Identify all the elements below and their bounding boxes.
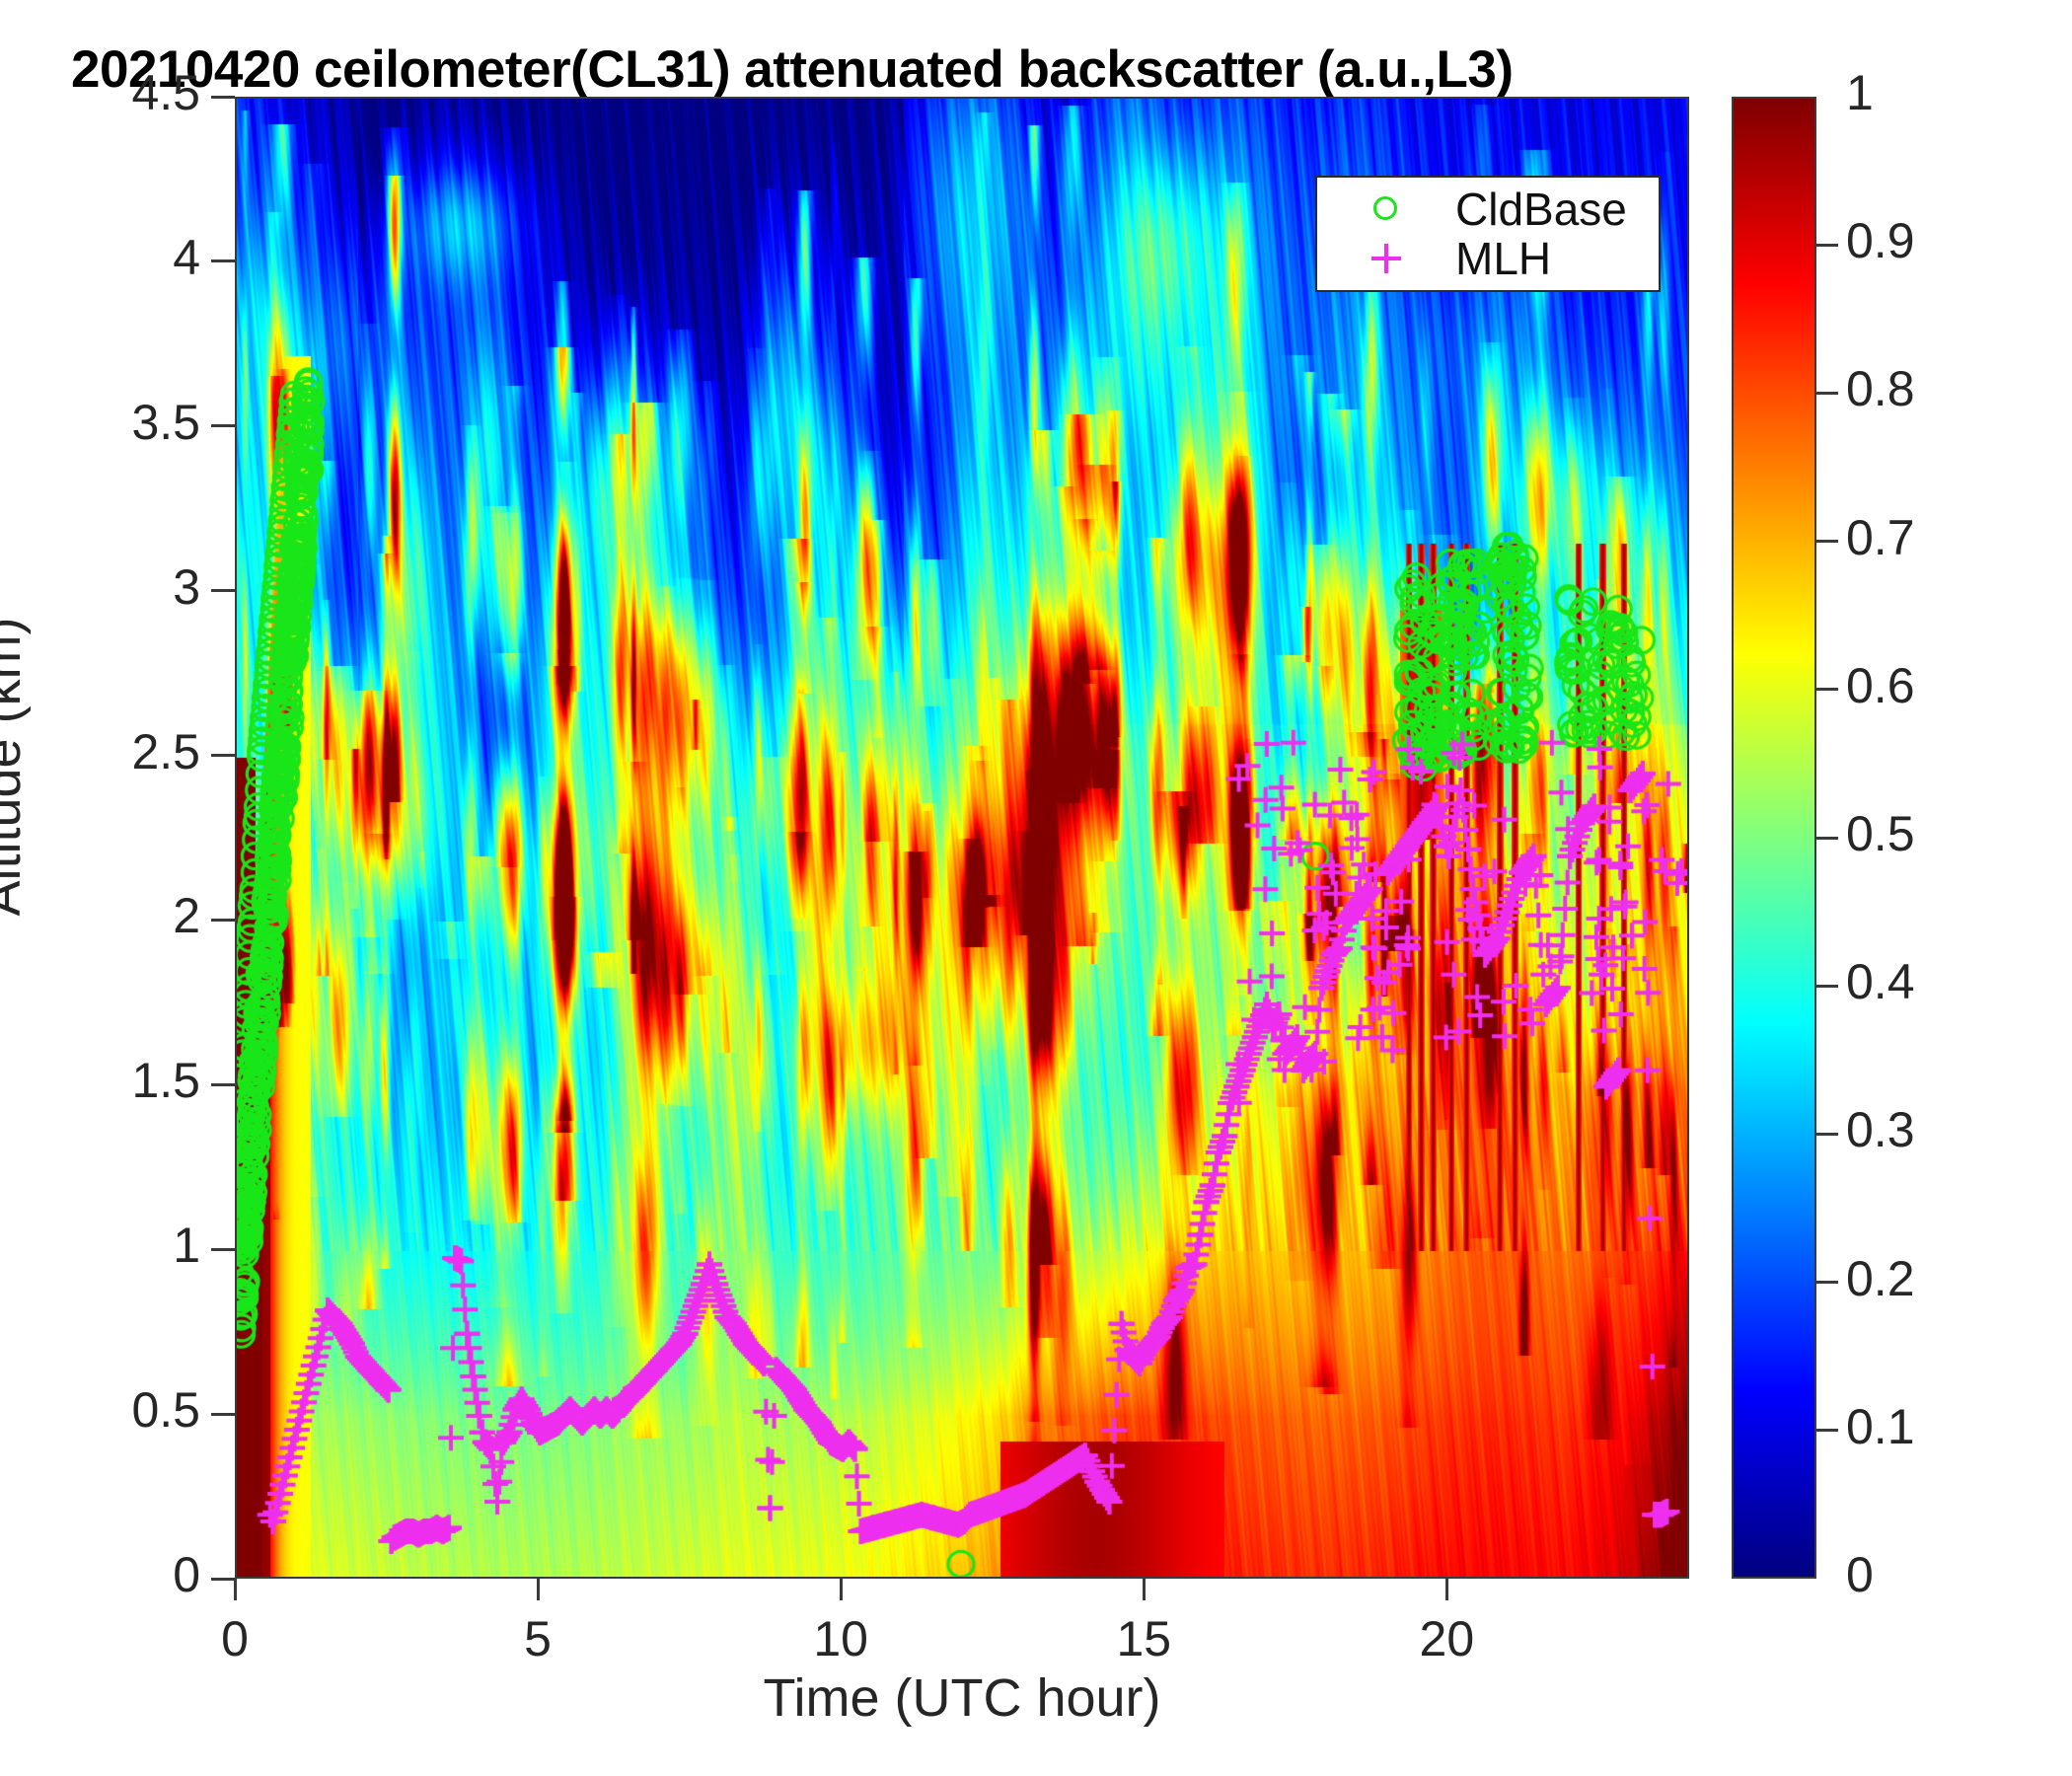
colorbar-gradient xyxy=(1734,99,1814,1577)
y-tick-label: 4 xyxy=(8,229,200,286)
y-tick-mark xyxy=(211,1578,235,1581)
colorbar-tick-label: 0.2 xyxy=(1846,1250,1915,1307)
y-tick-mark xyxy=(211,919,235,922)
colorbar xyxy=(1732,97,1816,1579)
legend-item-mlh: MLH xyxy=(1317,234,1659,283)
y-tick-mark xyxy=(211,96,235,99)
colorbar-tick-label: 0.9 xyxy=(1846,212,1915,269)
colorbar-tick-mark xyxy=(1816,1429,1838,1432)
colorbar-tick-mark xyxy=(1816,244,1838,247)
marker-overlay xyxy=(237,99,1689,1579)
plot-area xyxy=(235,97,1689,1579)
y-tick-mark xyxy=(211,1413,235,1416)
colorbar-tick-mark xyxy=(1816,688,1838,691)
colorbar-tick-mark xyxy=(1816,837,1838,840)
y-tick-label: 4.5 xyxy=(8,64,200,121)
legend-item-cldbase: CldBase xyxy=(1317,185,1659,234)
x-tick-label: 0 xyxy=(146,1610,324,1667)
y-tick-mark xyxy=(211,589,235,592)
y-axis-label: Altitude (km) xyxy=(0,323,33,1211)
legend-label-cldbase: CldBase xyxy=(1455,185,1627,234)
colorbar-tick-label: 0.7 xyxy=(1846,509,1915,566)
x-tick-mark xyxy=(537,1579,540,1600)
x-tick-label: 10 xyxy=(752,1610,929,1667)
colorbar-tick-label: 0.4 xyxy=(1846,953,1915,1010)
y-tick-mark xyxy=(211,424,235,427)
y-tick-mark xyxy=(211,754,235,757)
y-tick-label: 0 xyxy=(8,1546,200,1603)
colorbar-tick-mark xyxy=(1816,392,1838,395)
colorbar-tick-mark xyxy=(1816,1133,1838,1136)
y-tick-label: 1.5 xyxy=(8,1052,200,1109)
y-tick-label: 1 xyxy=(8,1217,200,1274)
y-tick-label: 2 xyxy=(8,887,200,944)
colorbar-tick-label: 0 xyxy=(1846,1546,1874,1603)
y-tick-label: 0.5 xyxy=(8,1381,200,1439)
x-tick-mark xyxy=(1445,1579,1448,1600)
y-tick-label: 3 xyxy=(8,558,200,616)
cldbase-circle-icon xyxy=(1317,185,1455,234)
figure-root: 20210420 ceilometer(CL31) attenuated bac… xyxy=(0,0,2072,1776)
chart-title: 20210420 ceilometer(CL31) attenuated bac… xyxy=(71,39,1748,99)
x-tick-label: 5 xyxy=(449,1610,627,1667)
y-tick-mark xyxy=(211,1083,235,1086)
x-tick-mark xyxy=(840,1579,843,1600)
x-tick-mark xyxy=(234,1579,237,1600)
y-tick-mark xyxy=(211,259,235,262)
x-axis-label: Time (UTC hour) xyxy=(235,1667,1689,1729)
colorbar-tick-label: 0.6 xyxy=(1846,657,1915,714)
colorbar-tick-mark xyxy=(1816,1281,1838,1284)
colorbar-tick-label: 0.3 xyxy=(1846,1101,1915,1158)
colorbar-tick-label: 0.5 xyxy=(1846,805,1915,862)
colorbar-tick-label: 0.8 xyxy=(1846,360,1915,417)
x-tick-mark xyxy=(1143,1579,1146,1600)
y-tick-mark xyxy=(211,1248,235,1251)
colorbar-tick-label: 1 xyxy=(1846,64,1874,121)
mlh-plus-icon xyxy=(1317,234,1455,283)
legend-label-mlh: MLH xyxy=(1455,234,1551,283)
y-tick-label: 2.5 xyxy=(8,723,200,780)
x-tick-label: 20 xyxy=(1358,1610,1535,1667)
legend: CldBase MLH xyxy=(1315,176,1661,292)
x-tick-label: 15 xyxy=(1055,1610,1232,1667)
colorbar-tick-label: 0.1 xyxy=(1846,1398,1915,1455)
colorbar-tick-mark xyxy=(1816,985,1838,988)
y-tick-label: 3.5 xyxy=(8,394,200,451)
colorbar-tick-mark xyxy=(1816,540,1838,543)
